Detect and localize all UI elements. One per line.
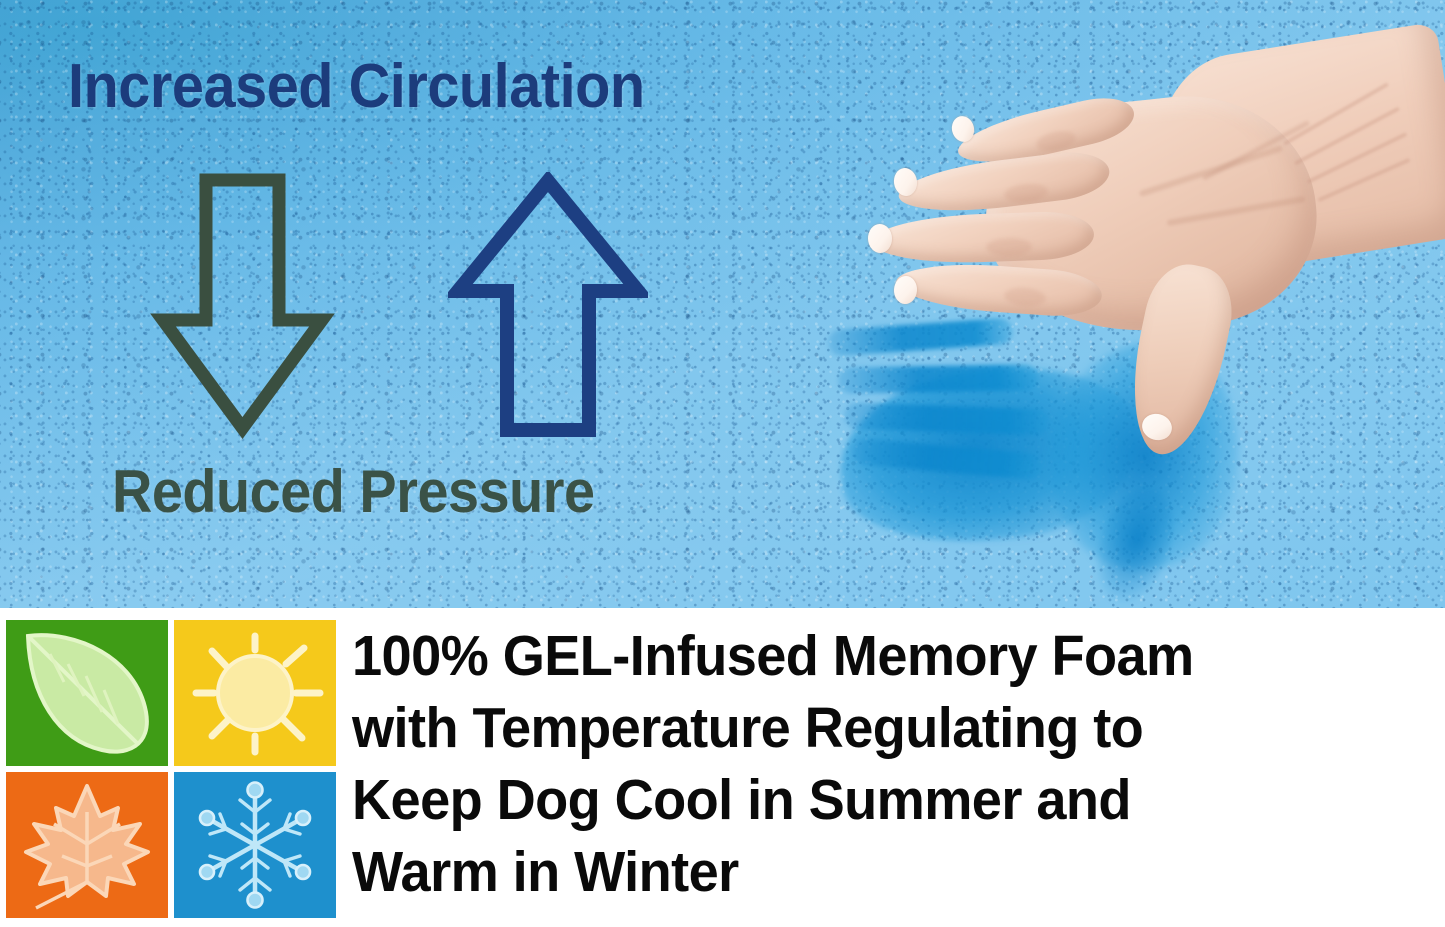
caption-line-3: Keep Dog Cool in Summer and: [352, 764, 1390, 836]
arrow-down-outline-icon: [150, 170, 335, 440]
leaf-icon: [6, 620, 168, 766]
product-graphic-root: Increased Circulation Reduced Pressure: [0, 0, 1445, 927]
season-tile-autumn: [6, 772, 168, 918]
season-tile-summer: [174, 620, 336, 766]
caption-line-4: Warm in Winter: [352, 836, 1390, 908]
season-tile-spring: [6, 620, 168, 766]
snowflake-icon: [174, 772, 336, 918]
caption-block: 100% GEL-Infused Memory Foam with Temper…: [352, 620, 1445, 908]
hand-pressing-foam-photo: [836, 48, 1445, 448]
sun-icon: [174, 620, 336, 766]
fingernail: [893, 275, 918, 305]
reduced-pressure-label: Reduced Pressure: [112, 462, 595, 522]
season-tiles: [6, 620, 336, 918]
maple-leaf-icon: [6, 772, 168, 918]
ring-finger: [871, 210, 1095, 266]
caption-line-1: 100% GEL-Infused Memory Foam: [352, 620, 1390, 692]
caption-line-2: with Temperature Regulating to: [352, 692, 1390, 764]
arrow-up-outline-icon: [448, 172, 648, 440]
season-tile-winter: [174, 772, 336, 918]
gel-memory-foam-photo: Increased Circulation Reduced Pressure: [0, 0, 1445, 608]
increased-circulation-label: Increased Circulation: [68, 56, 645, 118]
